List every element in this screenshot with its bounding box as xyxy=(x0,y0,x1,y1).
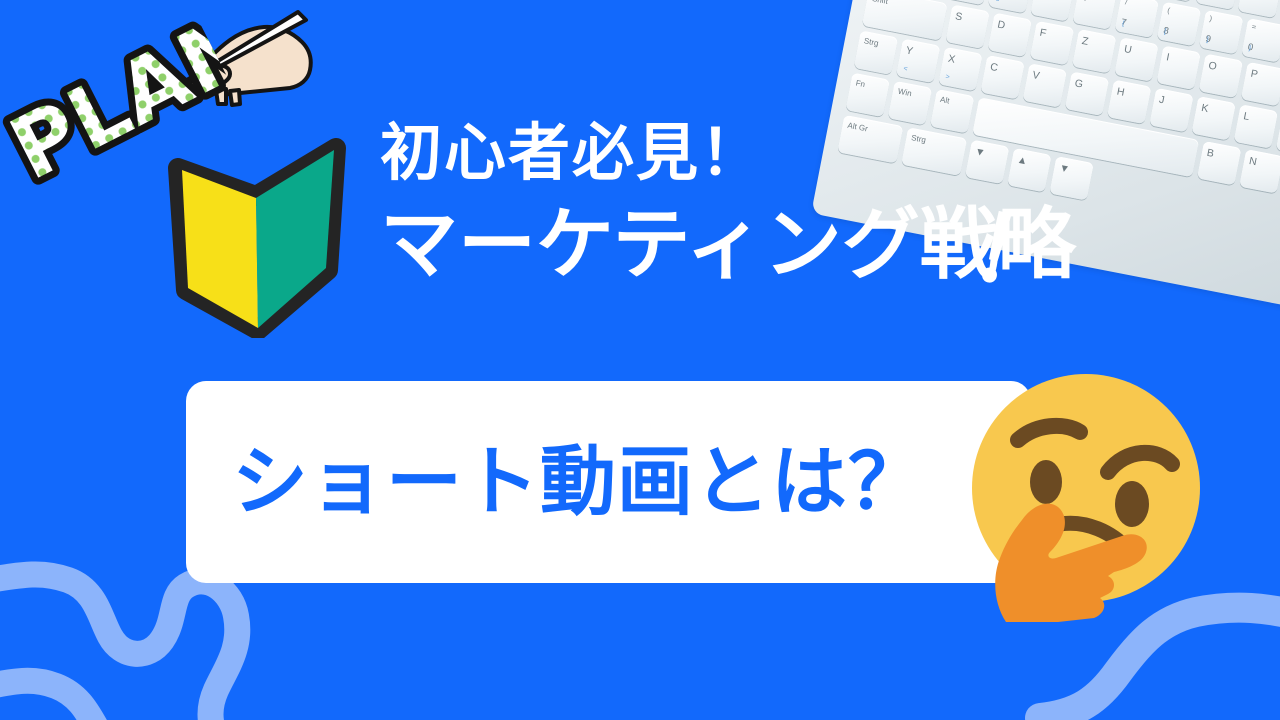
wave-squiggle-upper-left xyxy=(0,574,237,720)
key-main-legend: U xyxy=(1123,44,1132,56)
keyboard-key[interactable]: N xyxy=(1239,149,1280,194)
key-main-legend: K xyxy=(1200,103,1209,115)
key-main-legend: Fn xyxy=(855,79,866,89)
key-main-legend: N xyxy=(1248,156,1257,168)
key-sub-legend: < xyxy=(903,65,908,73)
headline-block: 初心者必見！ マーケティング戦略 ！ xyxy=(380,122,1080,302)
question-card: ショート動画とは？ xyxy=(186,381,1031,583)
question-card-text: ショート動画とは？ xyxy=(186,444,1031,520)
key-main-legend: C xyxy=(989,62,998,74)
shoshinsha-beginner-mark-icon xyxy=(168,138,348,338)
poster-canvas: @W4%5&6F9F10F11F12Caps lockAE€RT/7{(8[)9… xyxy=(0,0,1280,720)
keyboard-key[interactable]: Z xyxy=(1072,29,1117,74)
keyboard-key[interactable]: (8[ xyxy=(1157,2,1202,47)
keyboard-key[interactable]: C xyxy=(980,55,1025,100)
emoji-left-eye xyxy=(1030,460,1062,504)
key-top-legend: ) xyxy=(1209,15,1213,23)
key-main-legend: B xyxy=(1206,148,1215,160)
key-main-legend: Alt xyxy=(939,96,950,106)
key-main-legend: L xyxy=(1243,111,1251,122)
key-main-legend: Win xyxy=(897,88,912,98)
keyboard-key[interactable]: Y< xyxy=(896,39,941,84)
keyboard-key[interactable]: V xyxy=(1023,63,1068,108)
keyboard-key[interactable]: D xyxy=(988,13,1033,58)
key-top-legend: = xyxy=(1251,23,1257,31)
headline-line-1: 初心者必見！ xyxy=(380,122,1080,184)
key-main-legend: H xyxy=(1116,86,1125,98)
wave-squiggle-right xyxy=(1040,608,1280,718)
keyboard-key[interactable]: J xyxy=(1149,88,1194,133)
wave-squiggle-lower-left xyxy=(0,681,100,720)
keyboard-key[interactable]: Fn xyxy=(845,73,890,118)
thinking-face-emoji-icon xyxy=(962,372,1210,622)
key-main-legend: Shift xyxy=(871,0,888,6)
key-top-legend: ( xyxy=(1167,7,1171,15)
keyboard-key[interactable]: =0} xyxy=(1241,18,1280,63)
keyboard-key[interactable]: S xyxy=(945,4,990,49)
keyboard-key[interactable]: E€ xyxy=(988,0,1033,13)
key-main-legend: J xyxy=(1158,95,1165,106)
keyboard-key[interactable]: T xyxy=(1072,0,1117,30)
keyboard-key[interactable]: G xyxy=(1065,71,1110,116)
key-main-legend: X xyxy=(947,54,956,66)
keyboard-key[interactable]: /7{ xyxy=(1114,0,1159,38)
key-main-legend: V xyxy=(1032,70,1041,82)
keyboard-key[interactable]: B xyxy=(1197,141,1242,186)
key-main-legend: F xyxy=(1039,28,1047,40)
keyboard-key[interactable]: I xyxy=(1156,45,1201,90)
keyboard-key[interactable]: Win xyxy=(888,81,933,126)
key-sub-legend: € xyxy=(995,0,1000,3)
keyboard-key[interactable]: L xyxy=(1234,104,1279,149)
emoji-right-eye xyxy=(1115,481,1149,527)
keyboard-key[interactable]: O xyxy=(1199,54,1244,99)
key-main-legend: O xyxy=(1208,60,1218,72)
keyboard-key[interactable]: )9] xyxy=(1199,10,1244,55)
key-main-legend: Y xyxy=(905,45,914,57)
key-top-legend: / xyxy=(1124,0,1127,6)
keyboard-key[interactable]: U xyxy=(1114,37,1159,82)
keyboard-key[interactable]: P xyxy=(1241,62,1280,107)
keyboard-key[interactable]: R xyxy=(1030,0,1075,22)
key-main-legend: T xyxy=(1081,0,1089,4)
key-main-legend: Z xyxy=(1081,36,1089,48)
keyboard-key[interactable]: Strg xyxy=(854,30,899,75)
key-main-legend: P xyxy=(1250,69,1259,81)
headline-line-2-wrap: マーケティング戦略 ！ xyxy=(380,206,1080,302)
key-sub-legend: > xyxy=(945,73,950,81)
key-main-legend: D xyxy=(997,19,1006,31)
key-main-legend: S xyxy=(954,11,963,23)
keyboard-key[interactable]: H xyxy=(1107,80,1152,125)
keyboard-key[interactable]: F11 xyxy=(1238,0,1280,18)
key-main-legend: Strg xyxy=(863,37,879,48)
keyboard-key[interactable]: X> xyxy=(938,47,983,92)
keyboard-key[interactable]: F xyxy=(1030,21,1075,66)
keyboard-key[interactable]: K xyxy=(1191,96,1236,141)
key-main-legend: I xyxy=(1165,52,1170,63)
key-main-legend: G xyxy=(1074,78,1084,90)
